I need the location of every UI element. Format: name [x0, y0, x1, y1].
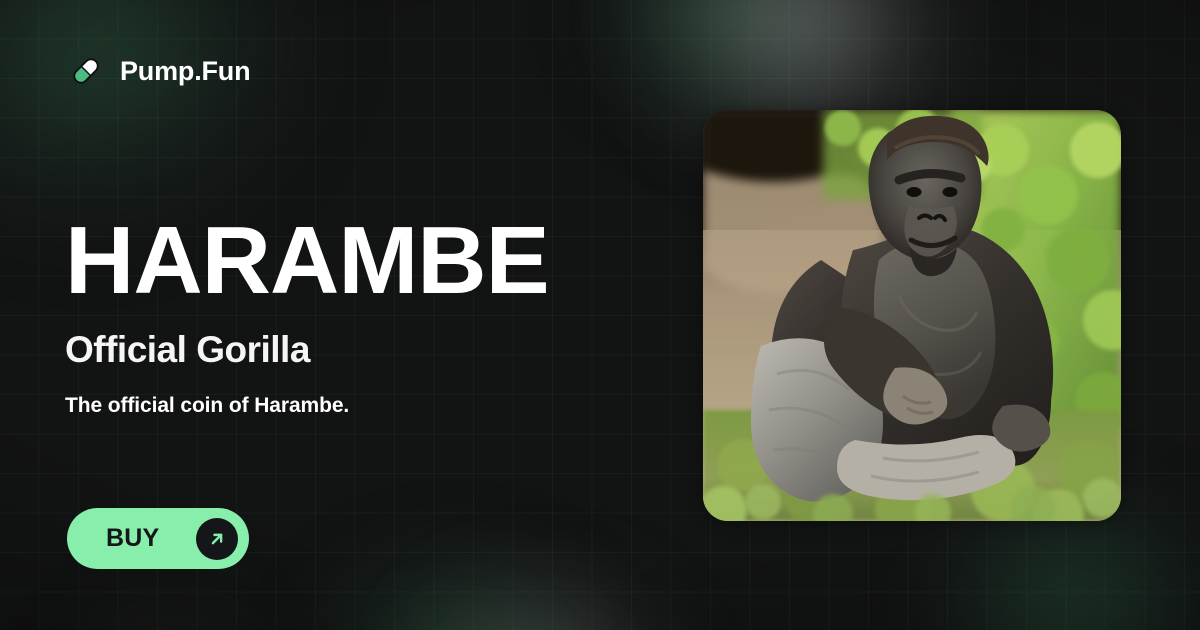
- brand-name: Pump.Fun: [120, 58, 250, 85]
- hero-subtitle: Official Gorilla: [65, 330, 310, 371]
- pill-capsule-icon: [67, 52, 105, 90]
- brand-lockup[interactable]: Pump.Fun: [67, 52, 250, 90]
- buy-button-label: BUY: [67, 524, 159, 553]
- open-graph-card: Pump.Fun HARAMBE Official Gorilla The of…: [0, 0, 1200, 630]
- buy-button[interactable]: BUY: [67, 508, 249, 569]
- hero-description: The official coin of Harambe.: [65, 392, 349, 419]
- arrow-up-right-icon: [196, 518, 238, 560]
- page-title: HARAMBE: [65, 213, 549, 309]
- gorilla-photo: [703, 110, 1121, 521]
